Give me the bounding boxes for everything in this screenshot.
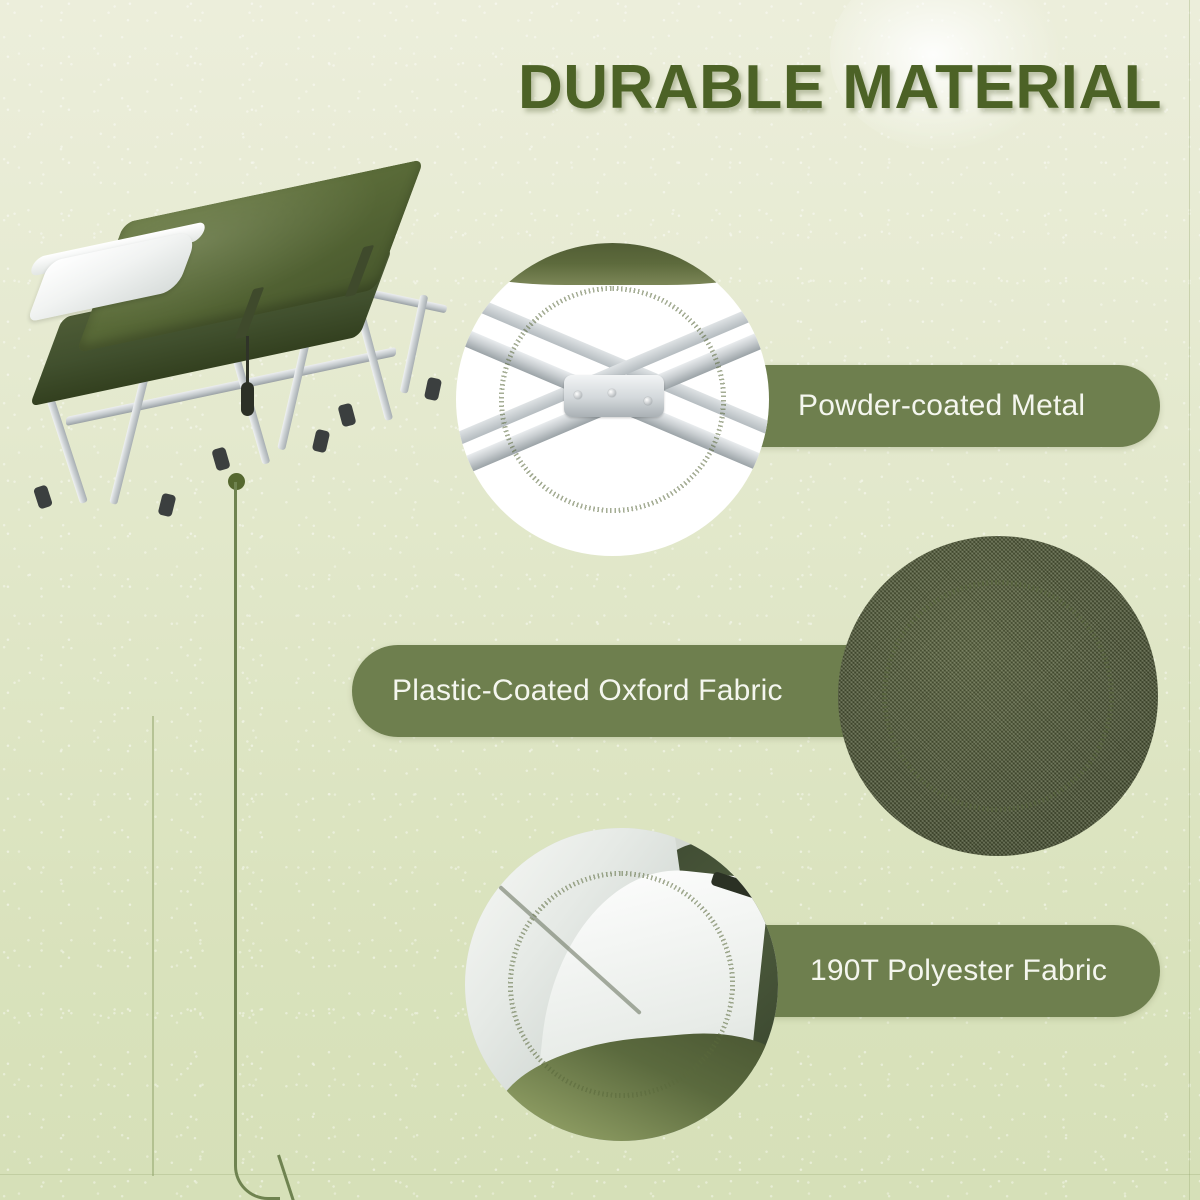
detail-circle-oxford-fabric [838, 536, 1158, 856]
cot-foot-4 [312, 429, 331, 454]
pull-cord [246, 336, 249, 388]
rivet-3 [644, 397, 652, 405]
feature-label-plastic-coated-oxford-fabric: Plastic-Coated Oxford Fabric [392, 674, 783, 708]
cot-foot-3 [211, 446, 231, 471]
page-title: DURABLE MATERIAL [0, 52, 1162, 123]
frame-border-right [1189, 0, 1190, 1200]
feature-label-powder-coated-metal: Powder-coated Metal [798, 389, 1085, 423]
cot-leg-6 [400, 294, 429, 393]
pull-cord-tab [241, 382, 254, 416]
feature-label-190t-polyester-fabric: 190T Polyester Fabric [810, 954, 1107, 988]
cot-foot-6 [424, 377, 442, 401]
cot-foot-5 [337, 403, 356, 428]
connector-line-vertical [234, 482, 237, 1107]
infographic-canvas: DURABLE MATERIAL Powder-coated Meta [0, 0, 1200, 1200]
cot-leg-4 [277, 337, 311, 451]
cot-fabric-edge [456, 243, 769, 285]
connector-line-elbow [234, 1100, 280, 1200]
circle-stitched-edge [838, 536, 1158, 856]
rivet-1 [574, 391, 582, 399]
cot-foot-1 [33, 484, 53, 509]
detail-circle-powder-coated-metal [456, 243, 769, 556]
cot-foot-2 [158, 493, 177, 518]
detail-circle-polyester-lining [465, 828, 778, 1141]
frame-border-bottom [0, 1174, 1200, 1175]
product-photo-camping-cot [18, 186, 468, 496]
connector-line-faint [152, 716, 154, 1176]
rivet-2 [608, 389, 616, 397]
hinge-bracket [564, 375, 664, 417]
